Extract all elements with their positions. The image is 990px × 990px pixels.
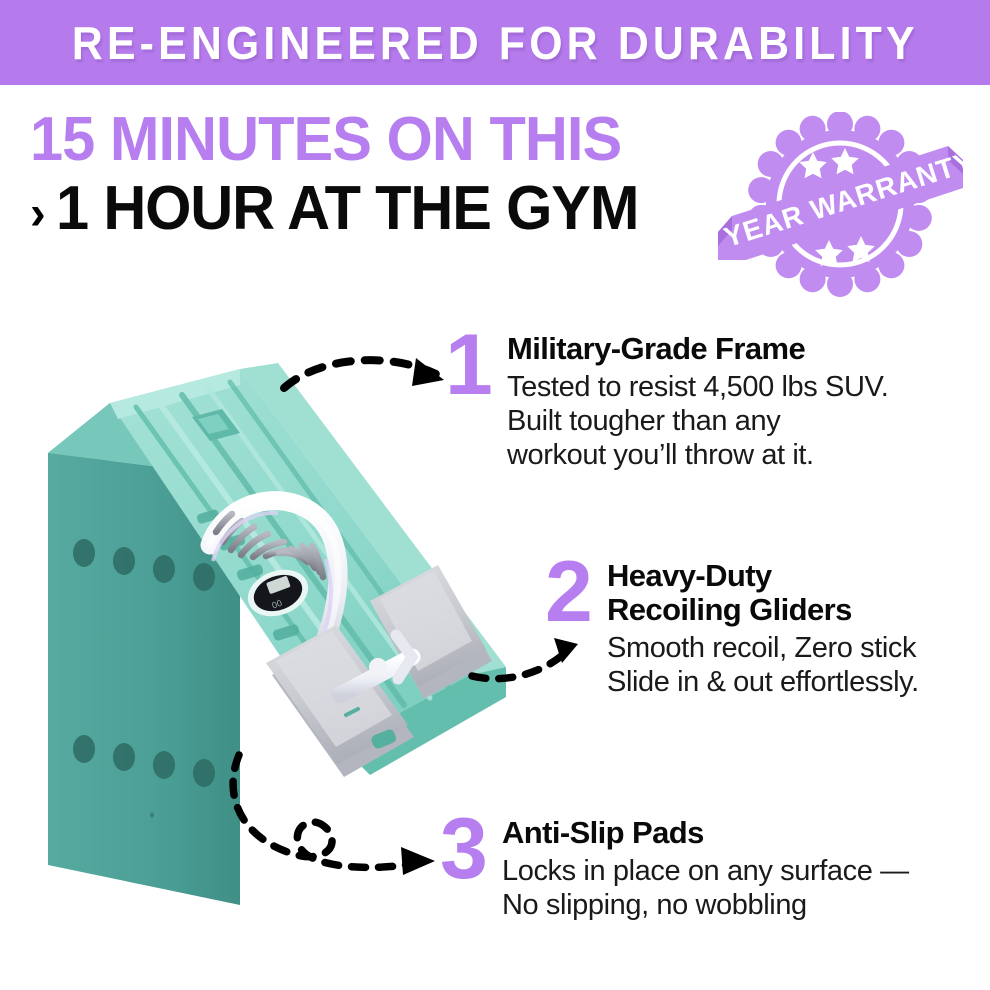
feature-body-1: Military-Grade Frame Tested to resist 4,… [507, 328, 975, 472]
infographic-page: RE-ENGINEERED FOR DURABILITY 15 MINUTES … [0, 0, 990, 990]
headline-line-1: 15 MINUTES ON THIS [30, 108, 702, 172]
feature-body-2: Heavy-Duty Recoiling Gliders Smooth reco… [607, 555, 975, 699]
header-banner-text: RE-ENGINEERED FOR DURABILITY [72, 16, 919, 70]
feature-title-1: Military-Grade Frame [507, 332, 975, 366]
dashed-arrow-to-feature-1 [280, 340, 470, 410]
feature-block-3: 3 Anti-Slip Pads Locks in place on any s… [440, 812, 980, 922]
feature-block-1: 1 Military-Grade Frame Tested to resist … [445, 328, 975, 472]
feature-title-2: Heavy-Duty Recoiling Gliders [607, 559, 975, 627]
headline-line-2: 1 HOUR AT THE GYM [56, 176, 638, 242]
feature-body-3: Anti-Slip Pads Locks in place on any sur… [502, 812, 980, 922]
greater-than-icon: › [30, 183, 46, 243]
dashed-arrow-to-feature-2 [468, 630, 598, 690]
feature-number-2: 2 [545, 555, 607, 629]
feature-description-1: Tested to resist 4,500 lbs SUV. Built to… [507, 370, 975, 472]
header-banner: RE-ENGINEERED FOR DURABILITY [0, 0, 990, 85]
feature-description-3: Locks in place on any surface — No slipp… [502, 854, 980, 922]
dashed-arrow-to-feature-3 [205, 745, 465, 890]
headline-block: 15 MINUTES ON THIS › 1 HOUR AT THE GYM [30, 108, 730, 243]
feature-block-2: 2 Heavy-Duty Recoiling Gliders Smooth re… [545, 555, 975, 699]
feature-description-2: Smooth recoil, Zero stick Slide in & out… [607, 631, 975, 699]
headline-line-2-row: › 1 HOUR AT THE GYM [30, 176, 730, 243]
warranty-badge: 3 YEAR WARRANTY [718, 112, 963, 297]
feature-title-3: Anti-Slip Pads [502, 816, 980, 850]
